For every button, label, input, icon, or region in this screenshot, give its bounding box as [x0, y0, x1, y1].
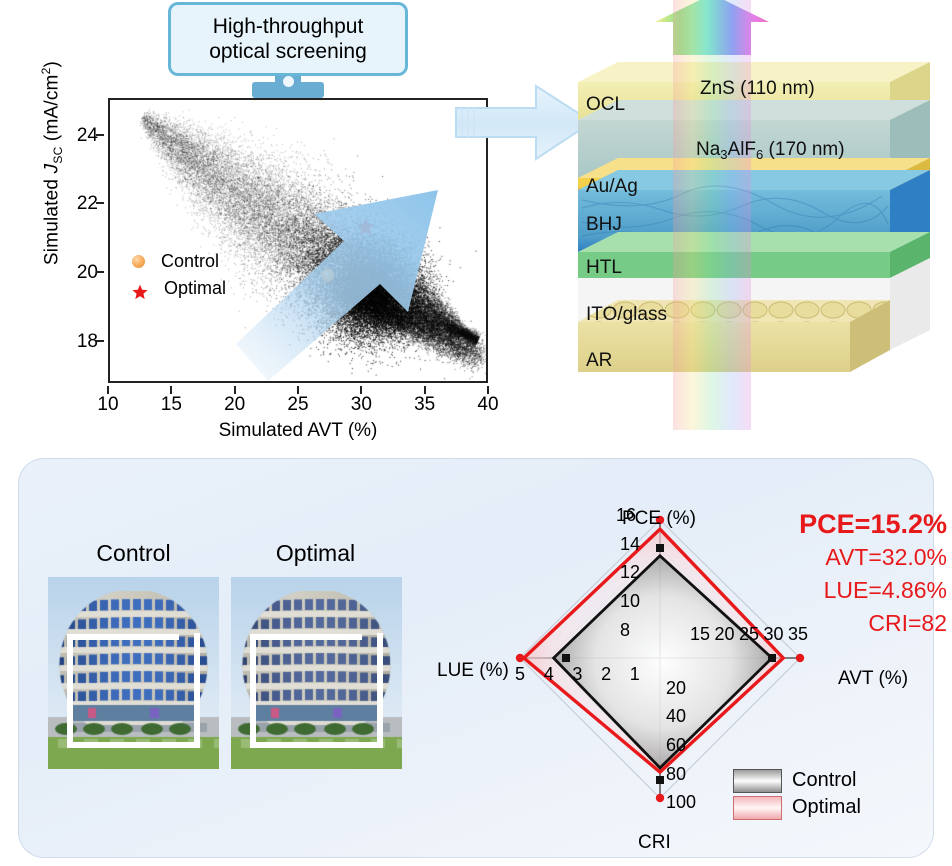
y-title-superscript: 2	[39, 68, 53, 75]
radar-tick-lue: 5	[515, 664, 525, 685]
x-tick: 25	[287, 394, 308, 416]
radar-tick-cri: 40	[666, 706, 686, 727]
radar-axis-label-lue: LUE (%)	[437, 660, 509, 682]
radar-tick-pce: 14	[620, 534, 640, 555]
value-cri: CRI=82	[757, 607, 947, 640]
y-tick-mark	[96, 271, 104, 273]
control-circle-icon	[132, 255, 145, 268]
value-lue: LUE=4.86%	[757, 574, 947, 607]
radar-polygon-control	[554, 556, 772, 768]
swatch-optimal	[733, 796, 782, 820]
radar-tick-avt: 15	[690, 624, 710, 645]
scatter-x-axis-title: Simulated AVT (%)	[108, 420, 488, 442]
x-tick-mark	[234, 386, 236, 394]
label-ocl: OCL	[586, 94, 625, 115]
radar-legend-label-optimal: Optimal	[792, 795, 861, 820]
label-ar: AR	[586, 350, 612, 371]
label-bhj: BHJ	[586, 214, 622, 235]
photo-optimal	[231, 577, 402, 769]
radar-tick-lue: 2	[601, 664, 611, 685]
y-tick-mark	[96, 202, 104, 204]
value-pce: PCE=15.2%	[757, 508, 947, 541]
x-tick-mark	[424, 386, 426, 394]
radar-legend-item-optimal: Optimal	[733, 795, 913, 820]
scatter-x-ticks: 10152025303540	[108, 386, 488, 416]
legend-label-control: Control	[161, 248, 219, 275]
x-tick-mark	[107, 386, 109, 394]
swatch-control	[733, 769, 782, 793]
legend-item-control: Control	[132, 248, 226, 275]
legend-label-optimal: Optimal	[164, 275, 226, 302]
x-tick-mark	[170, 386, 172, 394]
y-tick-mark	[96, 340, 104, 342]
scatter-point-cloud	[110, 100, 486, 381]
radar-tick-pce: 10	[620, 591, 640, 612]
radar-legend-item-control: Control	[733, 768, 913, 793]
label-ito-glass: ITO/glass	[586, 304, 667, 325]
radar-legend-label-control: Control	[792, 768, 856, 793]
scatter-legend: Control Optimal	[132, 248, 226, 302]
scatter-canvas	[110, 100, 488, 383]
y-tick-mark	[96, 134, 104, 136]
x-tick-mark	[360, 386, 362, 394]
radar-tick-lue: 4	[544, 664, 554, 685]
label-htl: HTL	[586, 257, 622, 278]
x-tick-mark	[297, 386, 299, 394]
radar-tick-avt: 20	[715, 624, 735, 645]
x-tick: 20	[224, 394, 245, 416]
radar-tick-cri: 100	[666, 792, 696, 813]
x-tick: 30	[351, 394, 372, 416]
label-zns: ZnS (110 nm)	[700, 78, 815, 99]
label-auag: Au/Ag	[586, 176, 638, 197]
radar-axis-label-cri: CRI	[638, 832, 671, 854]
y-tick: 18	[77, 331, 98, 353]
x-tick: 40	[477, 394, 498, 416]
radar-tick-pce: 16	[616, 505, 636, 526]
radar-tick-lue: 1	[630, 664, 640, 685]
optimal-star-icon	[132, 281, 148, 297]
callout-stand-screw	[283, 76, 294, 87]
radar-value-annotations: PCE=15.2% AVT=32.0% LUE=4.86% CRI=82	[757, 508, 947, 640]
photo-control	[48, 577, 219, 769]
x-tick: 15	[161, 394, 182, 416]
layer-htl	[578, 232, 930, 278]
photo-label-control: Control	[46, 540, 221, 567]
y-tick: 24	[77, 125, 98, 147]
y-tick: 22	[77, 193, 98, 215]
y-tick: 20	[77, 262, 98, 284]
x-tick: 35	[414, 394, 435, 416]
photo-label-optimal: Optimal	[228, 540, 403, 567]
value-avt: AVT=32.0%	[757, 541, 947, 574]
callout-box: High-throughput optical screening	[168, 2, 408, 76]
building-photo-canvas	[231, 577, 402, 769]
radar-tick-pce: 8	[620, 620, 630, 641]
x-tick: 10	[97, 394, 118, 416]
callout-line-2: optical screening	[209, 39, 367, 64]
y-title-close: )	[41, 61, 62, 68]
label-na3alf6: Na3AlF6 (170 nm)	[696, 139, 845, 162]
scatter-plot-area	[108, 98, 488, 383]
radar-tick-cri: 80	[666, 764, 686, 785]
radar-tick-lue: 3	[572, 664, 582, 685]
light-beam-overlay	[673, 0, 751, 430]
radar-tick-cri: 60	[666, 735, 686, 756]
building-photo-canvas	[48, 577, 219, 769]
legend-item-optimal: Optimal	[132, 275, 226, 302]
radar-tick-pce: 12	[620, 562, 640, 583]
scatter-y-ticks: 18202224	[52, 98, 104, 383]
device-stack-diagram: OCL ZnS (110 nm) Na3AlF6 (170 nm) Au/Ag …	[560, 0, 952, 430]
callout-line-1: High-throughput	[209, 14, 367, 39]
radar-axis-label-avt: AVT (%)	[838, 668, 908, 690]
x-tick-mark	[487, 386, 489, 394]
radar-legend: Control Optimal	[733, 768, 913, 822]
radar-tick-cri: 20	[666, 678, 686, 699]
